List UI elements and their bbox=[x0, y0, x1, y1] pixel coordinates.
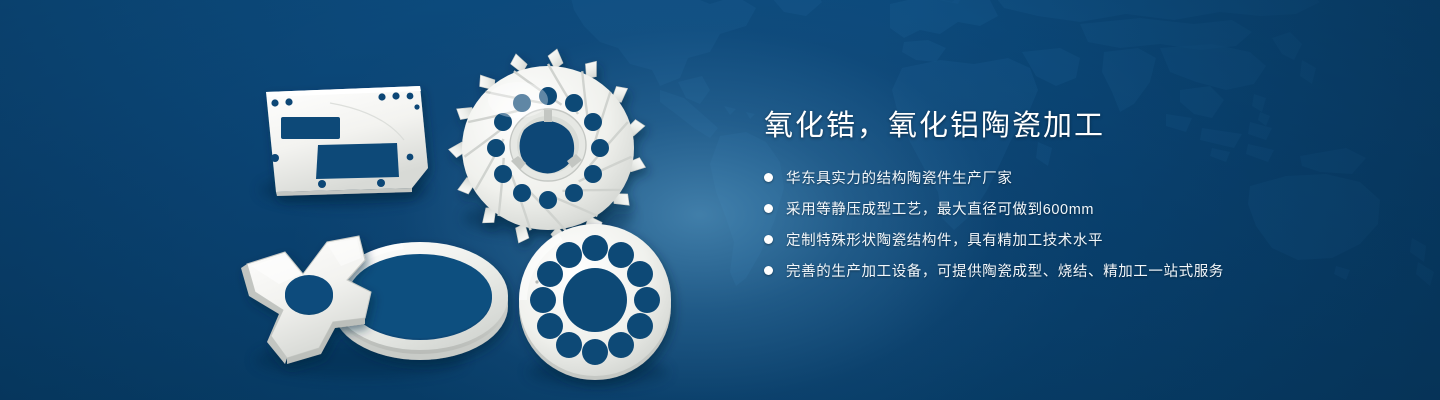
bullet-dot-icon bbox=[764, 204, 773, 213]
feature-text: 完善的生产加工设备，可提供陶瓷成型、烧结、精加工一站式服务 bbox=[786, 260, 1224, 281]
list-item: 采用等静压成型工艺，最大直径可做到600mm bbox=[764, 197, 1404, 220]
feature-text: 采用等静压成型工艺，最大直径可做到600mm bbox=[786, 198, 1094, 219]
bullet-dot-icon bbox=[764, 266, 773, 275]
ceramic-hole-disc bbox=[519, 224, 671, 380]
product-banner: 氧化锆，氧化铝陶瓷加工 华东具实力的结构陶瓷件生产厂家 采用等静压成型工艺，最大… bbox=[0, 0, 1440, 400]
page-title: 氧化锆，氧化铝陶瓷加工 bbox=[764, 108, 1404, 144]
ceramic-mounting-plate bbox=[266, 86, 428, 196]
feature-list: 华东具实力的结构陶瓷件生产厂家 采用等静压成型工艺，最大直径可做到600mm 定… bbox=[764, 166, 1404, 282]
feature-text: 定制特殊形状陶瓷结构件，具有精加工技术水平 bbox=[786, 229, 1103, 250]
bullet-dot-icon bbox=[764, 235, 773, 244]
banner-copy: 氧化锆，氧化铝陶瓷加工 华东具实力的结构陶瓷件生产厂家 采用等静压成型工艺，最大… bbox=[764, 108, 1404, 290]
feature-text: 华东具实力的结构陶瓷件生产厂家 bbox=[786, 167, 1013, 188]
bullet-dot-icon bbox=[764, 173, 773, 182]
product-photo-cluster bbox=[0, 0, 720, 400]
list-item: 完善的生产加工设备，可提供陶瓷成型、烧结、精加工一站式服务 bbox=[764, 259, 1404, 282]
list-item: 华东具实力的结构陶瓷件生产厂家 bbox=[764, 166, 1404, 189]
list-item: 定制特殊形状陶瓷结构件，具有精加工技术水平 bbox=[764, 228, 1404, 251]
